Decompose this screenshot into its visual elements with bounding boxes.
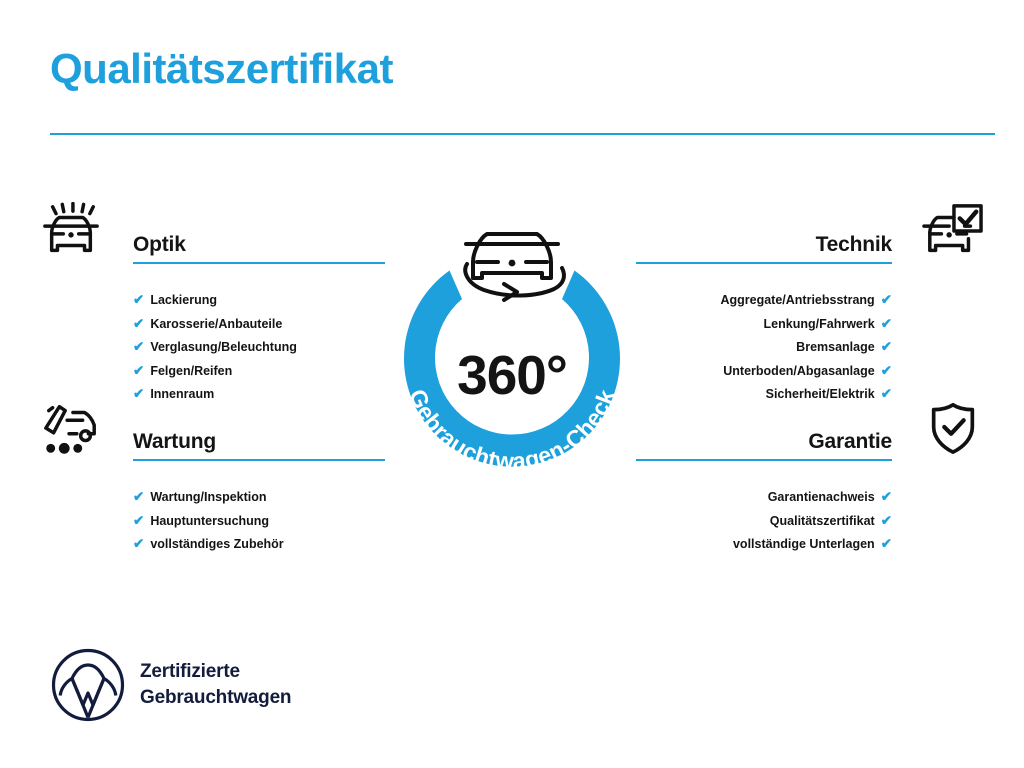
check-icon: ✔: [881, 489, 892, 504]
footer-line-1: Zertifizierte: [140, 659, 291, 685]
check-icon: ✔: [133, 339, 144, 354]
section-heading-technik: Technik: [636, 234, 892, 264]
car-checkbox-icon: [922, 202, 984, 260]
section-title: Optik: [133, 234, 385, 256]
list-item: vollständige Unterlagen✔: [636, 532, 892, 556]
list-item-label: vollständige Unterlagen: [733, 537, 875, 551]
list-item-label: Garantienachweis: [768, 490, 875, 504]
section-divider: [636, 459, 892, 461]
list-item: Qualitätszertifikat✔: [636, 509, 892, 533]
checklist-wartung: ✔Wartung/Inspektion ✔Hauptuntersuchung ✔…: [133, 485, 385, 556]
list-item: Lenkung/Fahrwerk✔: [636, 312, 892, 336]
page-title: Qualitätszertifikat: [50, 48, 393, 90]
vw-logo: [50, 647, 126, 723]
list-item: ✔Innenraum: [133, 382, 385, 406]
footer-line-2: Gebrauchtwagen: [140, 685, 291, 711]
list-item-label: Bremsanlage: [796, 340, 875, 354]
check-icon: ✔: [881, 339, 892, 354]
list-item: Garantienachweis✔: [636, 485, 892, 509]
section-heading-optik: Optik: [133, 234, 385, 264]
section-title: Wartung: [133, 431, 385, 453]
section-divider: [133, 262, 385, 264]
check-icon: ✔: [133, 386, 144, 401]
list-item: ✔Wartung/Inspektion: [133, 485, 385, 509]
checklist-technik: Aggregate/Antriebsstrang✔ Lenkung/Fahrwe…: [636, 288, 892, 406]
check-icon: ✔: [881, 316, 892, 331]
list-item-label: Felgen/Reifen: [150, 364, 232, 378]
section-divider: [636, 262, 892, 264]
check-icon: ✔: [881, 363, 892, 378]
check-icon: ✔: [881, 292, 892, 307]
list-item-label: Aggregate/Antriebsstrang: [720, 293, 874, 307]
list-item-label: Lackierung: [150, 293, 217, 307]
certificate-page: Qualitätszertifikat: [0, 0, 1024, 768]
check-icon: ✔: [881, 386, 892, 401]
shield-check-icon: [922, 399, 984, 457]
check-icon: ✔: [881, 536, 892, 551]
list-item-label: Lenkung/Fahrwerk: [764, 317, 875, 331]
360-check-badge: 360° Gebrauchtwagen-Check: [376, 196, 648, 486]
check-icon: ✔: [133, 489, 144, 504]
list-item-label: Sicherheit/Elektrik: [766, 387, 875, 401]
header-divider: [50, 133, 995, 135]
checklist-garantie: Garantienachweis✔ Qualitätszertifikat✔ v…: [636, 485, 892, 556]
list-item: Aggregate/Antriebsstrang✔: [636, 288, 892, 312]
check-icon: ✔: [133, 513, 144, 528]
car-service-pencil-icon: [40, 399, 102, 457]
section-title: Garantie: [636, 431, 892, 453]
list-item-label: Hauptuntersuchung: [150, 514, 269, 528]
section-title: Technik: [636, 234, 892, 256]
check-icon: ✔: [133, 536, 144, 551]
list-item-label: Unterboden/Abgasanlage: [723, 364, 874, 378]
list-item: Unterboden/Abgasanlage✔: [636, 359, 892, 383]
list-item-label: Innenraum: [150, 387, 214, 401]
list-item-label: vollständiges Zubehör: [150, 537, 283, 551]
list-item-label: Qualitätszertifikat: [770, 514, 875, 528]
list-item: ✔Karosserie/Anbauteile: [133, 312, 385, 336]
checklist-optik: ✔Lackierung ✔Karosserie/Anbauteile ✔Verg…: [133, 288, 385, 406]
car-rotation-icon: [465, 234, 564, 300]
list-item: Sicherheit/Elektrik✔: [636, 382, 892, 406]
check-icon: ✔: [881, 513, 892, 528]
list-item: Bremsanlage✔: [636, 335, 892, 359]
check-icon: ✔: [133, 292, 144, 307]
list-item-label: Karosserie/Anbauteile: [150, 317, 282, 331]
list-item: ✔Lackierung: [133, 288, 385, 312]
section-heading-wartung: Wartung: [133, 431, 385, 461]
badge-center-text: 360°: [457, 344, 567, 406]
list-item-label: Verglasung/Beleuchtung: [150, 340, 297, 354]
section-heading-garantie: Garantie: [636, 431, 892, 461]
list-item-label: Wartung/Inspektion: [150, 490, 266, 504]
footer-text: Zertifizierte Gebrauchtwagen: [140, 659, 291, 710]
footer-logo-block: Zertifizierte Gebrauchtwagen: [50, 647, 291, 723]
list-item: ✔vollständiges Zubehör: [133, 532, 385, 556]
list-item: ✔Verglasung/Beleuchtung: [133, 335, 385, 359]
check-icon: ✔: [133, 316, 144, 331]
section-divider: [133, 459, 385, 461]
car-shine-icon: [40, 202, 102, 260]
list-item: ✔Felgen/Reifen: [133, 359, 385, 383]
list-item: ✔Hauptuntersuchung: [133, 509, 385, 533]
check-icon: ✔: [133, 363, 144, 378]
